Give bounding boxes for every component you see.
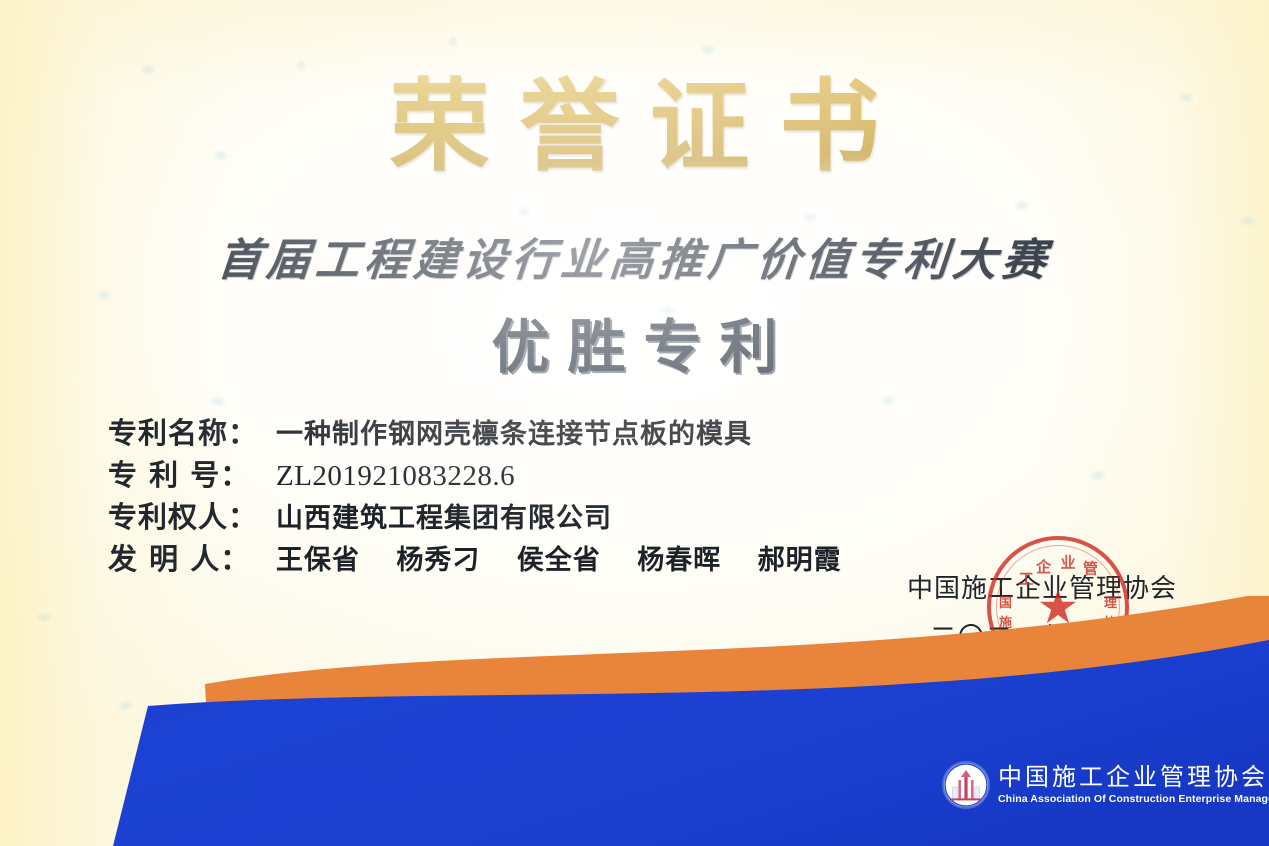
certificate-fields: 专利名称： 一种制作钢网壳檩条连接节点板的模具 专 利 号： ZL2019210… (108, 410, 928, 578)
patent-number-label: 专 利 号： (108, 452, 276, 494)
certificate-award-line: 优胜专利 (0, 300, 1269, 384)
logo-english-name: China Association Of Construction Enterp… (998, 794, 1269, 805)
emblem-svg (944, 763, 988, 807)
patentee-value: 山西建筑工程集团有限公司 (276, 496, 612, 535)
patent-name-label: 专利名称： (108, 410, 276, 452)
inventors-label: 发 明 人： (108, 536, 276, 578)
certificate-subtitle: 首届工程建设行业高推广价值专利大赛 (0, 224, 1269, 288)
certificate-page: 荣誉证书 首届工程建设行业高推广价值专利大赛 优胜专利 专利名称： 一种制作钢网… (0, 0, 1269, 846)
inventor-name: 侯全省 (517, 545, 601, 576)
inventors-value: 王保省 杨秀刁 侯全省 杨春晖 郝明霞 (276, 538, 842, 577)
logo-text-block: 中国施工企业管理协会 China Association Of Construc… (998, 765, 1269, 804)
certificate-main-title: 荣誉证书 (0, 72, 1269, 180)
inventor-name: 王保省 (276, 545, 360, 576)
inventor-name: 杨春晖 (637, 545, 721, 576)
footer-association-logo: 中国施工企业管理协会 China Association Of Construc… (944, 763, 1269, 807)
patent-number-value: ZL201921083228.6 (276, 460, 515, 493)
bottom-decorative-banner (0, 596, 1269, 846)
field-row-inventors: 发 明 人： 王保省 杨秀刁 侯全省 杨春晖 郝明霞 (108, 536, 928, 578)
patentee-label: 专利权人： (108, 494, 276, 536)
logo-chinese-name: 中国施工企业管理协会 (998, 765, 1269, 790)
inventor-name: 杨秀刁 (396, 545, 480, 576)
patent-name-value: 一种制作钢网壳檩条连接节点板的模具 (276, 412, 752, 451)
association-emblem-icon (944, 763, 988, 807)
field-row-patent-name: 专利名称： 一种制作钢网壳檩条连接节点板的模具 (108, 410, 928, 452)
field-row-patentee: 专利权人： 山西建筑工程集团有限公司 (108, 494, 928, 536)
field-row-patent-number: 专 利 号： ZL201921083228.6 (108, 452, 928, 494)
inventor-name: 郝明霞 (758, 545, 842, 576)
title-zone: 荣誉证书 (0, 72, 1269, 180)
